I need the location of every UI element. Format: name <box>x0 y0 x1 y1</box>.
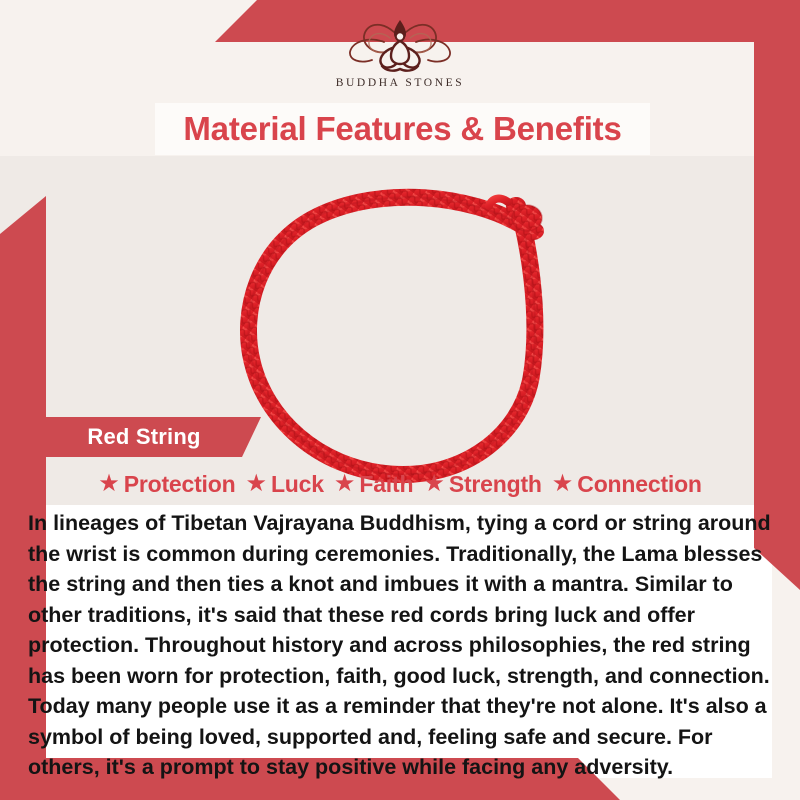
benefit-item: ★ Luck <box>245 471 323 498</box>
benefit-label: Strength <box>449 471 542 498</box>
benefit-item: ★ Strength <box>423 471 541 498</box>
benefit-item: ★ Faith <box>334 471 413 498</box>
product-label: Red String <box>46 417 242 457</box>
benefit-item: ★ Connection <box>552 471 702 498</box>
body-paragraph: In lineages of Tibetan Vajrayana Buddhis… <box>28 508 776 783</box>
benefit-label: Luck <box>271 471 324 498</box>
star-icon: ★ <box>552 472 574 496</box>
brand-name: BUDDHA STONES <box>336 77 464 89</box>
star-icon: ★ <box>334 472 356 496</box>
benefit-item: ★ Protection <box>98 471 235 498</box>
star-icon: ★ <box>423 472 445 496</box>
benefits-row: ★ Protection ★ Luck ★ Faith ★ Strength ★… <box>30 463 770 505</box>
bracelet-loop <box>248 197 534 474</box>
benefit-label: Faith <box>359 471 413 498</box>
benefit-label: Protection <box>124 471 236 498</box>
star-icon: ★ <box>98 472 120 496</box>
brand-header: BUDDHA STONES <box>0 0 800 100</box>
benefit-label: Connection <box>577 471 702 498</box>
star-icon: ★ <box>245 472 267 496</box>
lotus-meditation-icon <box>336 14 464 76</box>
page-title: Material Features & Benefits <box>155 103 650 155</box>
infographic-poster: BUDDHA STONES Material Features & Benefi… <box>0 0 800 800</box>
